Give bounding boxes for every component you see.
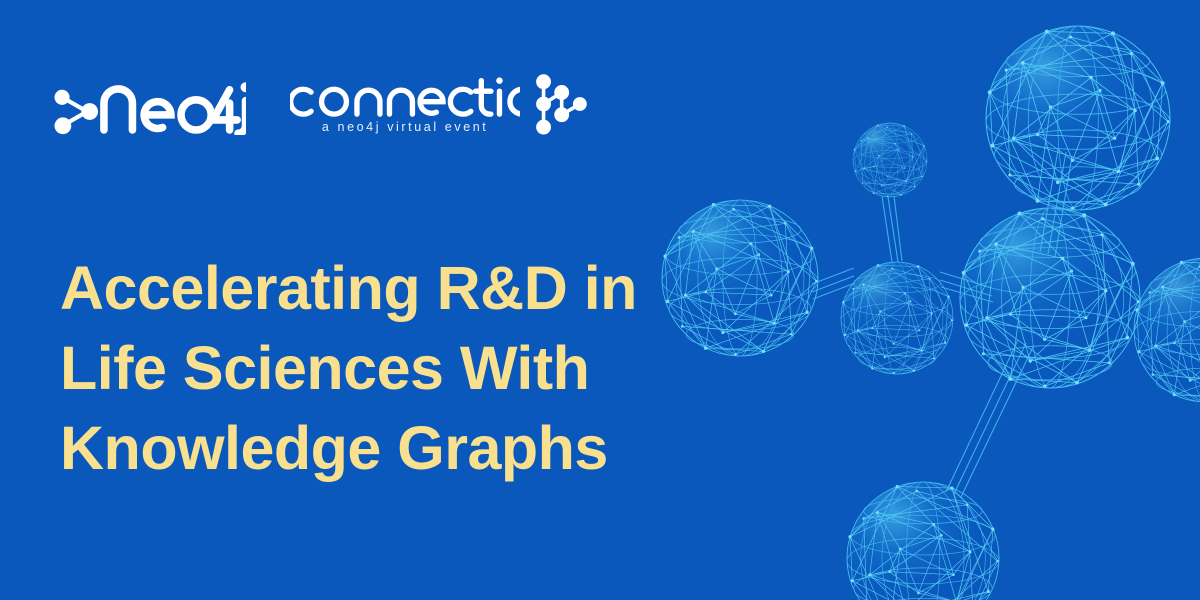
slide-canvas: a neo4j virtual event xyxy=(0,0,1200,600)
connections-tagline: a neo4j virtual event xyxy=(322,119,488,135)
neo4j-logo[interactable] xyxy=(52,68,246,140)
molecule-wireframe-artwork xyxy=(640,0,1200,600)
page-title-line-2: Life Sciences With xyxy=(60,328,720,408)
page-title: Accelerating R&D in Life Sciences With K… xyxy=(60,248,720,488)
logo-row: a neo4j virtual event xyxy=(52,68,593,140)
neo4j-graph-mark-icon xyxy=(55,90,99,134)
connections-logo-text: a neo4j virtual event xyxy=(290,73,520,135)
connections-node-graph-icon xyxy=(532,71,593,137)
page-title-line-1: Accelerating R&D in xyxy=(60,248,720,328)
logo-spacer xyxy=(246,104,290,105)
connections-logo[interactable]: a neo4j virtual event xyxy=(290,71,593,137)
connections-wordmark xyxy=(290,73,520,117)
page-title-line-3: Knowledge Graphs xyxy=(60,408,720,488)
